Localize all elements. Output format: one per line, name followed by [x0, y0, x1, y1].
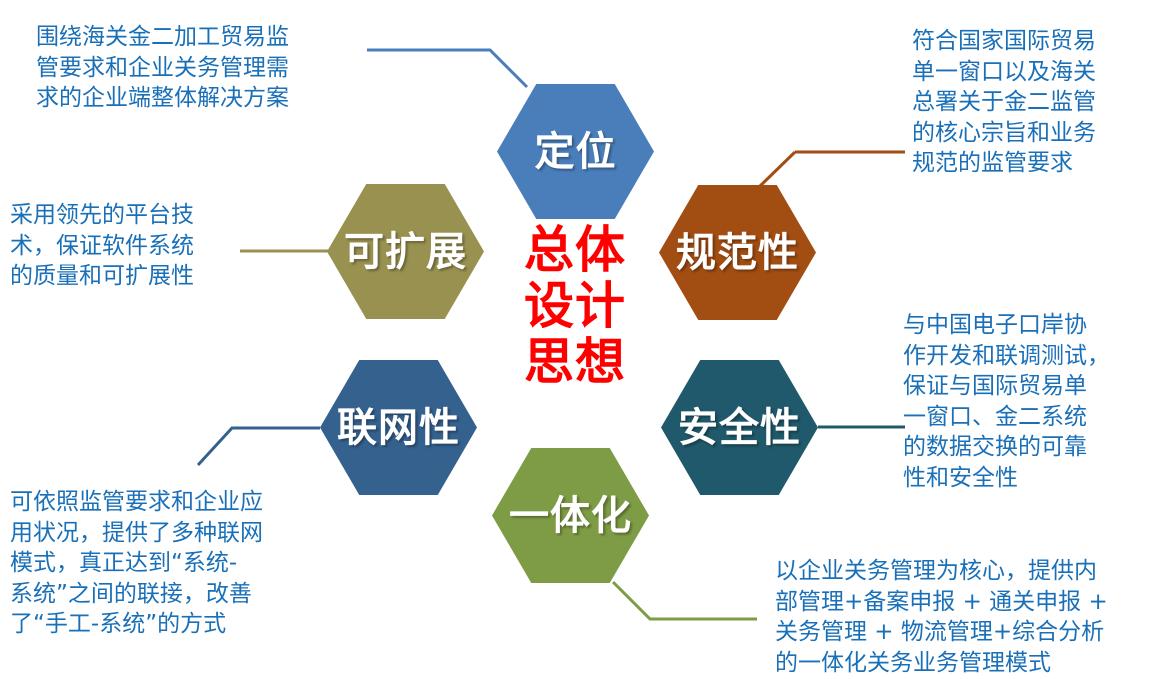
hexagon-integration-label: 一体化	[509, 496, 632, 536]
note-standardization: 符合国家国际贸易 单一窗口以及海关 总署关于金二监管 的核心宗旨和业务 规范的监…	[912, 26, 1161, 179]
center-title: 总体 设计 思想	[495, 222, 655, 390]
hexagon-extensibility[interactable]: 可扩展	[327, 184, 484, 319]
connector-standardization-diag	[758, 152, 795, 188]
note-extensibility: 采用领先的平台技 术，保证软件系统 的质量和可扩展性	[10, 200, 250, 292]
note-security: 与中国电子口岸协 作开发和联调测试， 保证与国际贸易单 一窗口、金二系统 的数据…	[903, 310, 1158, 493]
hexagon-positioning-label: 定位	[535, 132, 617, 172]
diagram-canvas: 定位 规范性 安全性 一体化 联网性 可扩展 总体 设计 思想 围绕海关金二加工…	[0, 0, 1161, 679]
connector-integration	[613, 582, 757, 619]
hexagon-networking-label: 联网性	[337, 408, 460, 448]
connector-networking	[198, 428, 320, 465]
hexagon-networking[interactable]: 联网性	[320, 360, 477, 495]
hexagon-standardization[interactable]: 规范性	[659, 185, 816, 320]
hexagon-extensibility-label: 可扩展	[344, 232, 467, 272]
note-networking: 可依照监管要求和企业应 用状况，提供了多种联网 模式，真正达到“系统- 系统”之…	[10, 487, 340, 640]
hexagon-security-label: 安全性	[678, 408, 801, 448]
connector-positioning	[367, 50, 527, 87]
note-integration: 以企业关务管理为核心，提供内 部管理+备案申报 + 通关申报 + 关务管理 + …	[775, 556, 1161, 678]
hexagon-positioning[interactable]: 定位	[497, 84, 654, 219]
hexagon-integration[interactable]: 一体化	[492, 448, 649, 583]
hexagon-security[interactable]: 安全性	[661, 360, 818, 495]
note-positioning: 围绕海关金二加工贸易监 管要求和企业关务管理需 求的企业端整体解决方案	[36, 22, 356, 114]
hexagon-standardization-label: 规范性	[676, 233, 799, 273]
